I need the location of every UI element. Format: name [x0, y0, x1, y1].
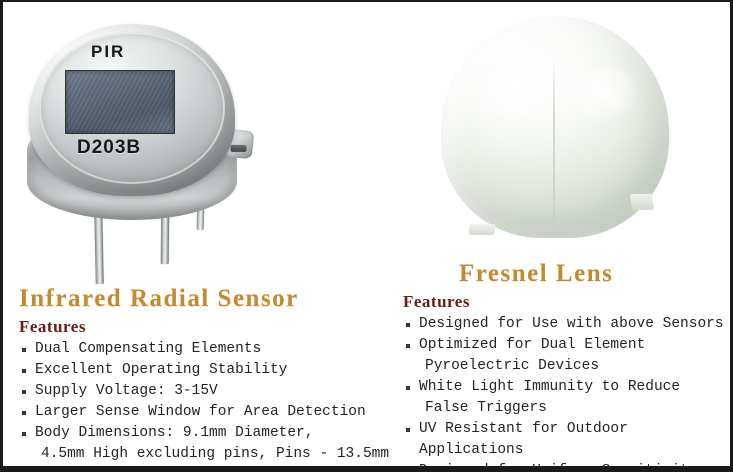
- fresnel-lens-title: Fresnel Lens: [403, 260, 730, 288]
- lens-mounting-tab: [468, 224, 495, 235]
- sensor-can: PIR D203B: [29, 24, 235, 196]
- feature-item: Supply Voltage: 3-15V: [19, 381, 419, 402]
- feature-item-continuation: False Triggers: [403, 398, 730, 419]
- pir-features-list: Dual Compensating Elements Excellent Ope…: [19, 339, 419, 466]
- lens-highlight: [479, 64, 553, 124]
- feature-item: UV Resistant for Outdoor Applications: [403, 419, 730, 461]
- feature-item: Excellent Operating Stability: [19, 360, 419, 381]
- datasheet-image: PIR D203B Infrared Radial Sensor Feature…: [0, 0, 733, 472]
- lens-highlight: [569, 68, 641, 124]
- fresnel-features-list: Designed for Use with above Sensors Opti…: [403, 314, 730, 466]
- datasheet-page: PIR D203B Infrared Radial Sensor Feature…: [3, 2, 730, 466]
- pir-sensor-title: Infrared Radial Sensor: [19, 285, 419, 313]
- feature-item: Larger Sense Window for Area Detection: [19, 402, 419, 423]
- sensor-window: [65, 70, 175, 134]
- feature-item: Optimized for Dual Element: [403, 335, 730, 356]
- lens-mounting-tab: [630, 194, 654, 210]
- sensor-marking-part-number: D203B: [77, 137, 141, 159]
- sensor-marking-top: PIR: [91, 42, 125, 62]
- pir-sensor-info: Infrared Radial Sensor Features Dual Com…: [19, 285, 419, 466]
- feature-item-continuation: Pyroelectric Devices: [403, 356, 730, 377]
- feature-item: Dual Compensating Elements: [19, 339, 419, 360]
- pir-features-heading: Features: [19, 317, 419, 337]
- feature-item: Designed for Use with above Sensors: [403, 314, 730, 335]
- pir-sensor-photo: PIR D203B: [11, 12, 301, 282]
- fresnel-lens-info: Fresnel Lens Features Designed for Use w…: [403, 260, 730, 466]
- feature-item: White Light Immunity to Reduce: [403, 377, 730, 398]
- feature-item-continuation: 4.5mm High excluding pins, Pins - 13.5mm…: [19, 444, 419, 466]
- feature-item: Body Dimensions: 9.1mm Diameter,: [19, 423, 419, 444]
- sensor-pin: [94, 210, 104, 284]
- lens-seam: [553, 60, 555, 220]
- fresnel-lens-photo: [433, 10, 703, 268]
- feature-item: Designed for Uniform Sensitivity: [403, 461, 730, 466]
- fresnel-features-heading: Features: [403, 292, 730, 312]
